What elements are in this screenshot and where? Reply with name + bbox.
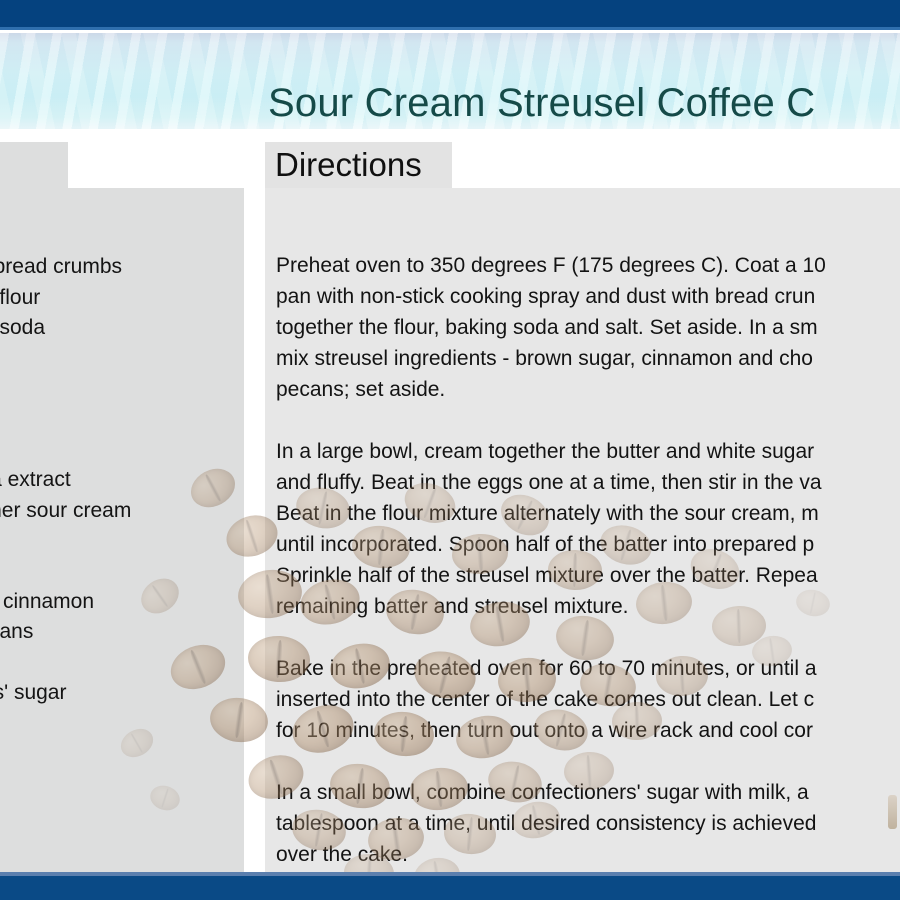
directions-paragraph: Bake in the preheated oven for 60 to 70 … [276, 653, 900, 746]
cursor-artifact [888, 795, 897, 829]
directions-heading: Directions [275, 144, 422, 186]
list-item: 1 (8 ounce) container sour cream [0, 496, 244, 527]
list-item: 1 teaspoon salt [0, 344, 244, 375]
list-item: 1 cup chopped pecans [0, 617, 244, 648]
top-window-bar [0, 0, 900, 27]
ingredients-panel: 2 tablespoons dry bread crumbs 2 cups al… [0, 188, 244, 872]
ingredients-list: 2 tablespoons dry bread crumbs 2 cups al… [0, 252, 244, 739]
list-item: 2 tablespoons dry bread crumbs [0, 252, 244, 283]
directions-text: Preheat oven to 350 degrees F (175 degre… [276, 250, 900, 870]
page-title: Sour Cream Streusel Coffee C [268, 81, 815, 125]
directions-paragraph: Preheat oven to 350 degrees F (175 degre… [276, 250, 900, 405]
directions-paragraph: In a large bowl, cream together the butt… [276, 436, 900, 622]
list-item: 1 teaspoon ground cinnamon [0, 587, 244, 618]
directions-panel: Preheat oven to 350 degrees F (175 degre… [265, 188, 900, 872]
list-item: 1 teaspoon baking soda [0, 313, 244, 344]
ingredients-column: Ingredients 2 tablespoons dry bread crum… [0, 142, 244, 872]
bottom-window-bar [0, 876, 900, 900]
directions-heading-box: Directions [265, 142, 452, 188]
directions-paragraph: In a small bowl, combine confectioners' … [276, 777, 900, 870]
list-spacer [0, 648, 244, 678]
ingredients-heading-box: Ingredients [0, 142, 68, 188]
list-item: 1 cup confectioners' sugar [0, 678, 244, 709]
list-spacer [0, 435, 244, 465]
list-item: 1 cup butter [0, 374, 244, 405]
title-banner: Sour Cream Streusel Coffee C [0, 33, 900, 129]
list-item: 2 cups all-purpose flour [0, 283, 244, 314]
directions-column: Directions Preheat oven to 350 degrees F… [265, 142, 900, 872]
list-item: 2 cups white sugar [0, 405, 244, 436]
list-item: 2 teaspoons vanilla extract [0, 465, 244, 496]
list-spacer [0, 526, 244, 556]
slide-canvas: Sour Cream Streusel Coffee C Ingredients… [0, 0, 900, 900]
list-item: 2 tablespoons milk [0, 708, 244, 739]
list-item: 1 cup brown sugar [0, 556, 244, 587]
top-bar-edge [0, 27, 900, 30]
